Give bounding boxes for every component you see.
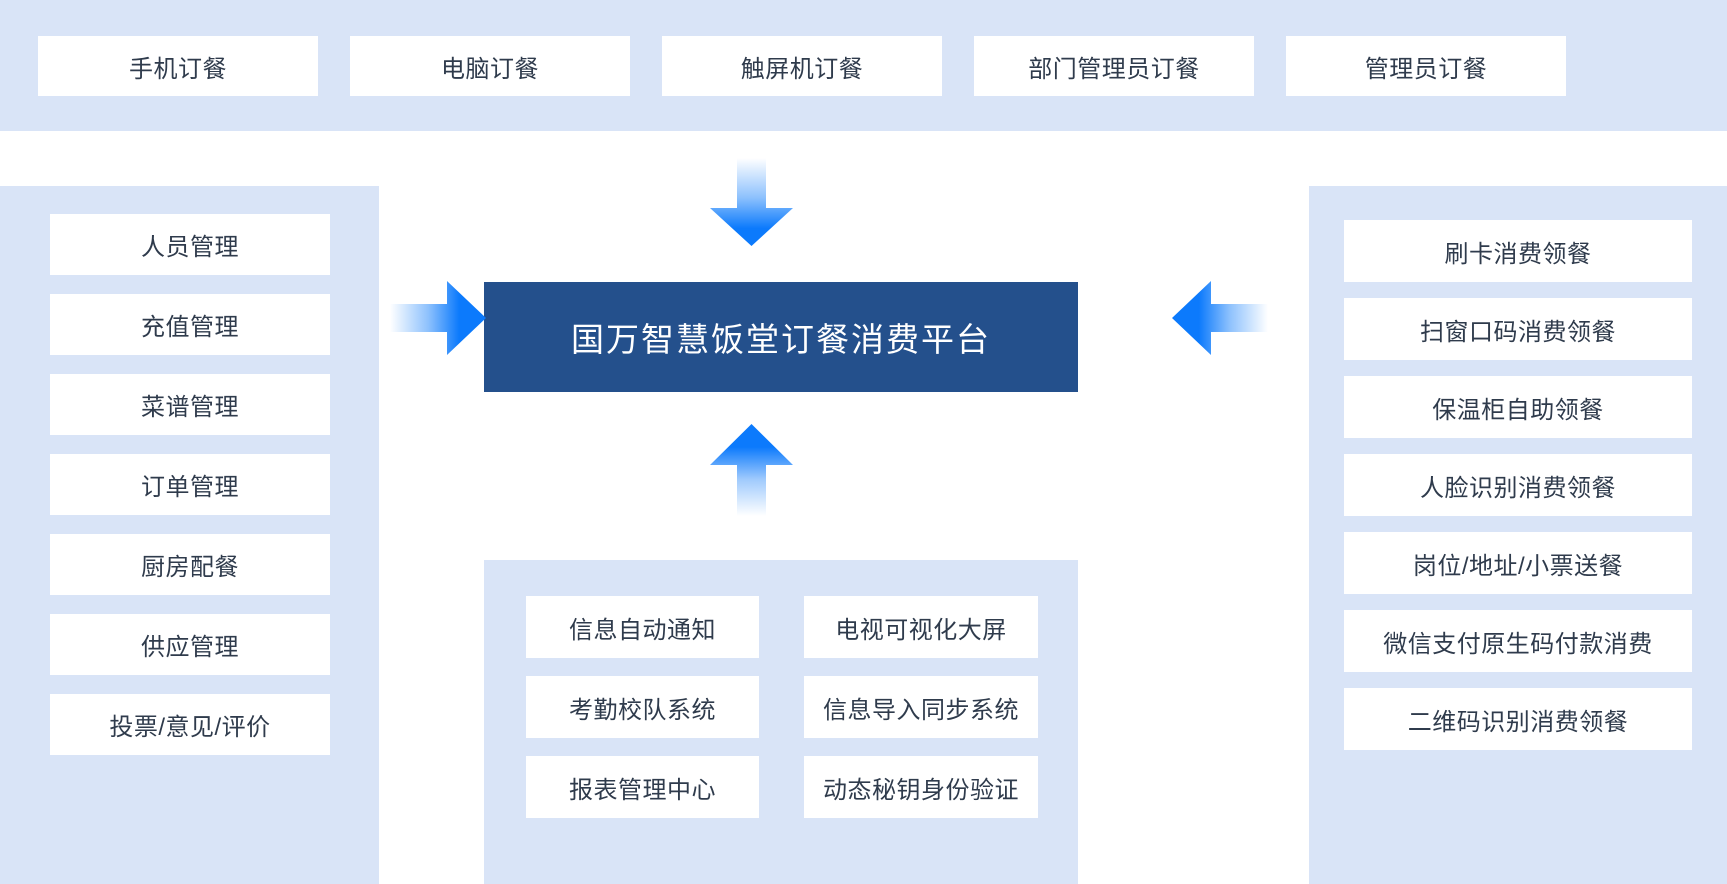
top-entry-panel: 手机订餐 电脑订餐 触屏机订餐 部门管理员订餐 管理员订餐 [0, 0, 1727, 131]
right-item-qr-code-recognition[interactable]: 二维码识别消费领餐 [1344, 688, 1692, 750]
left-management-list: 人员管理 充值管理 菜谱管理 订单管理 厨房配餐 供应管理 投票/意见/评价 [50, 214, 330, 755]
left-management-panel: 人员管理 充值管理 菜谱管理 订单管理 厨房配餐 供应管理 投票/意见/评价 [0, 186, 379, 884]
arrow-left-icon [1172, 281, 1268, 355]
right-item-post-address-receipt[interactable]: 岗位/地址/小票送餐 [1344, 532, 1692, 594]
right-consumption-panel: 刷卡消费领餐 扫窗口码消费领餐 保温柜自助领餐 人脸识别消费领餐 岗位/地址/小… [1309, 186, 1727, 884]
bottom-item-tv-big-screen[interactable]: 电视可视化大屏 [804, 596, 1038, 658]
page-title: 国万智慧饭堂订餐消费平台 [571, 313, 991, 361]
left-item-supply-management[interactable]: 供应管理 [50, 614, 330, 675]
top-item-admin-order[interactable]: 管理员订餐 [1286, 36, 1566, 96]
right-item-scan-window-code[interactable]: 扫窗口码消费领餐 [1344, 298, 1692, 360]
top-item-mobile-order[interactable]: 手机订餐 [38, 36, 318, 96]
left-item-order-management[interactable]: 订单管理 [50, 454, 330, 515]
right-item-card-swipe-meal[interactable]: 刷卡消费领餐 [1344, 220, 1692, 282]
bottom-support-grid: 信息自动通知 电视可视化大屏 考勤校队系统 信息导入同步系统 报表管理中心 动态… [526, 596, 1038, 818]
right-item-warming-cabinet-self[interactable]: 保温柜自助领餐 [1344, 376, 1692, 438]
bottom-support-panel: 信息自动通知 电视可视化大屏 考勤校队系统 信息导入同步系统 报表管理中心 动态… [484, 560, 1078, 884]
arrow-up-icon [710, 424, 793, 516]
top-item-touchscreen-order[interactable]: 触屏机订餐 [662, 36, 942, 96]
arrow-right-icon [390, 281, 486, 355]
left-item-recharge-management[interactable]: 充值管理 [50, 294, 330, 355]
bottom-item-dynamic-key-auth[interactable]: 动态秘钥身份验证 [804, 756, 1038, 818]
left-item-kitchen-catering[interactable]: 厨房配餐 [50, 534, 330, 595]
top-entry-row: 手机订餐 电脑订餐 触屏机订餐 部门管理员订餐 管理员订餐 [38, 36, 1689, 96]
right-consumption-list: 刷卡消费领餐 扫窗口码消费领餐 保温柜自助领餐 人脸识别消费领餐 岗位/地址/小… [1344, 220, 1692, 750]
bottom-item-auto-notification[interactable]: 信息自动通知 [526, 596, 759, 658]
platform-title-box: 国万智慧饭堂订餐消费平台 [484, 282, 1078, 392]
top-item-dept-admin-order[interactable]: 部门管理员订餐 [974, 36, 1254, 96]
right-item-wechat-native-pay[interactable]: 微信支付原生码付款消费 [1344, 610, 1692, 672]
right-item-face-recognition[interactable]: 人脸识别消费领餐 [1344, 454, 1692, 516]
left-item-personnel-management[interactable]: 人员管理 [50, 214, 330, 275]
bottom-item-attendance-system[interactable]: 考勤校队系统 [526, 676, 759, 738]
arrow-down-icon [710, 158, 793, 246]
diagram-canvas: 手机订餐 电脑订餐 触屏机订餐 部门管理员订餐 管理员订餐 人员管理 充值管理 … [0, 0, 1727, 884]
left-item-menu-management[interactable]: 菜谱管理 [50, 374, 330, 435]
bottom-item-report-center[interactable]: 报表管理中心 [526, 756, 759, 818]
top-item-pc-order[interactable]: 电脑订餐 [350, 36, 630, 96]
left-item-vote-opinion-rating[interactable]: 投票/意见/评价 [50, 694, 330, 755]
bottom-item-data-import-sync[interactable]: 信息导入同步系统 [804, 676, 1038, 738]
